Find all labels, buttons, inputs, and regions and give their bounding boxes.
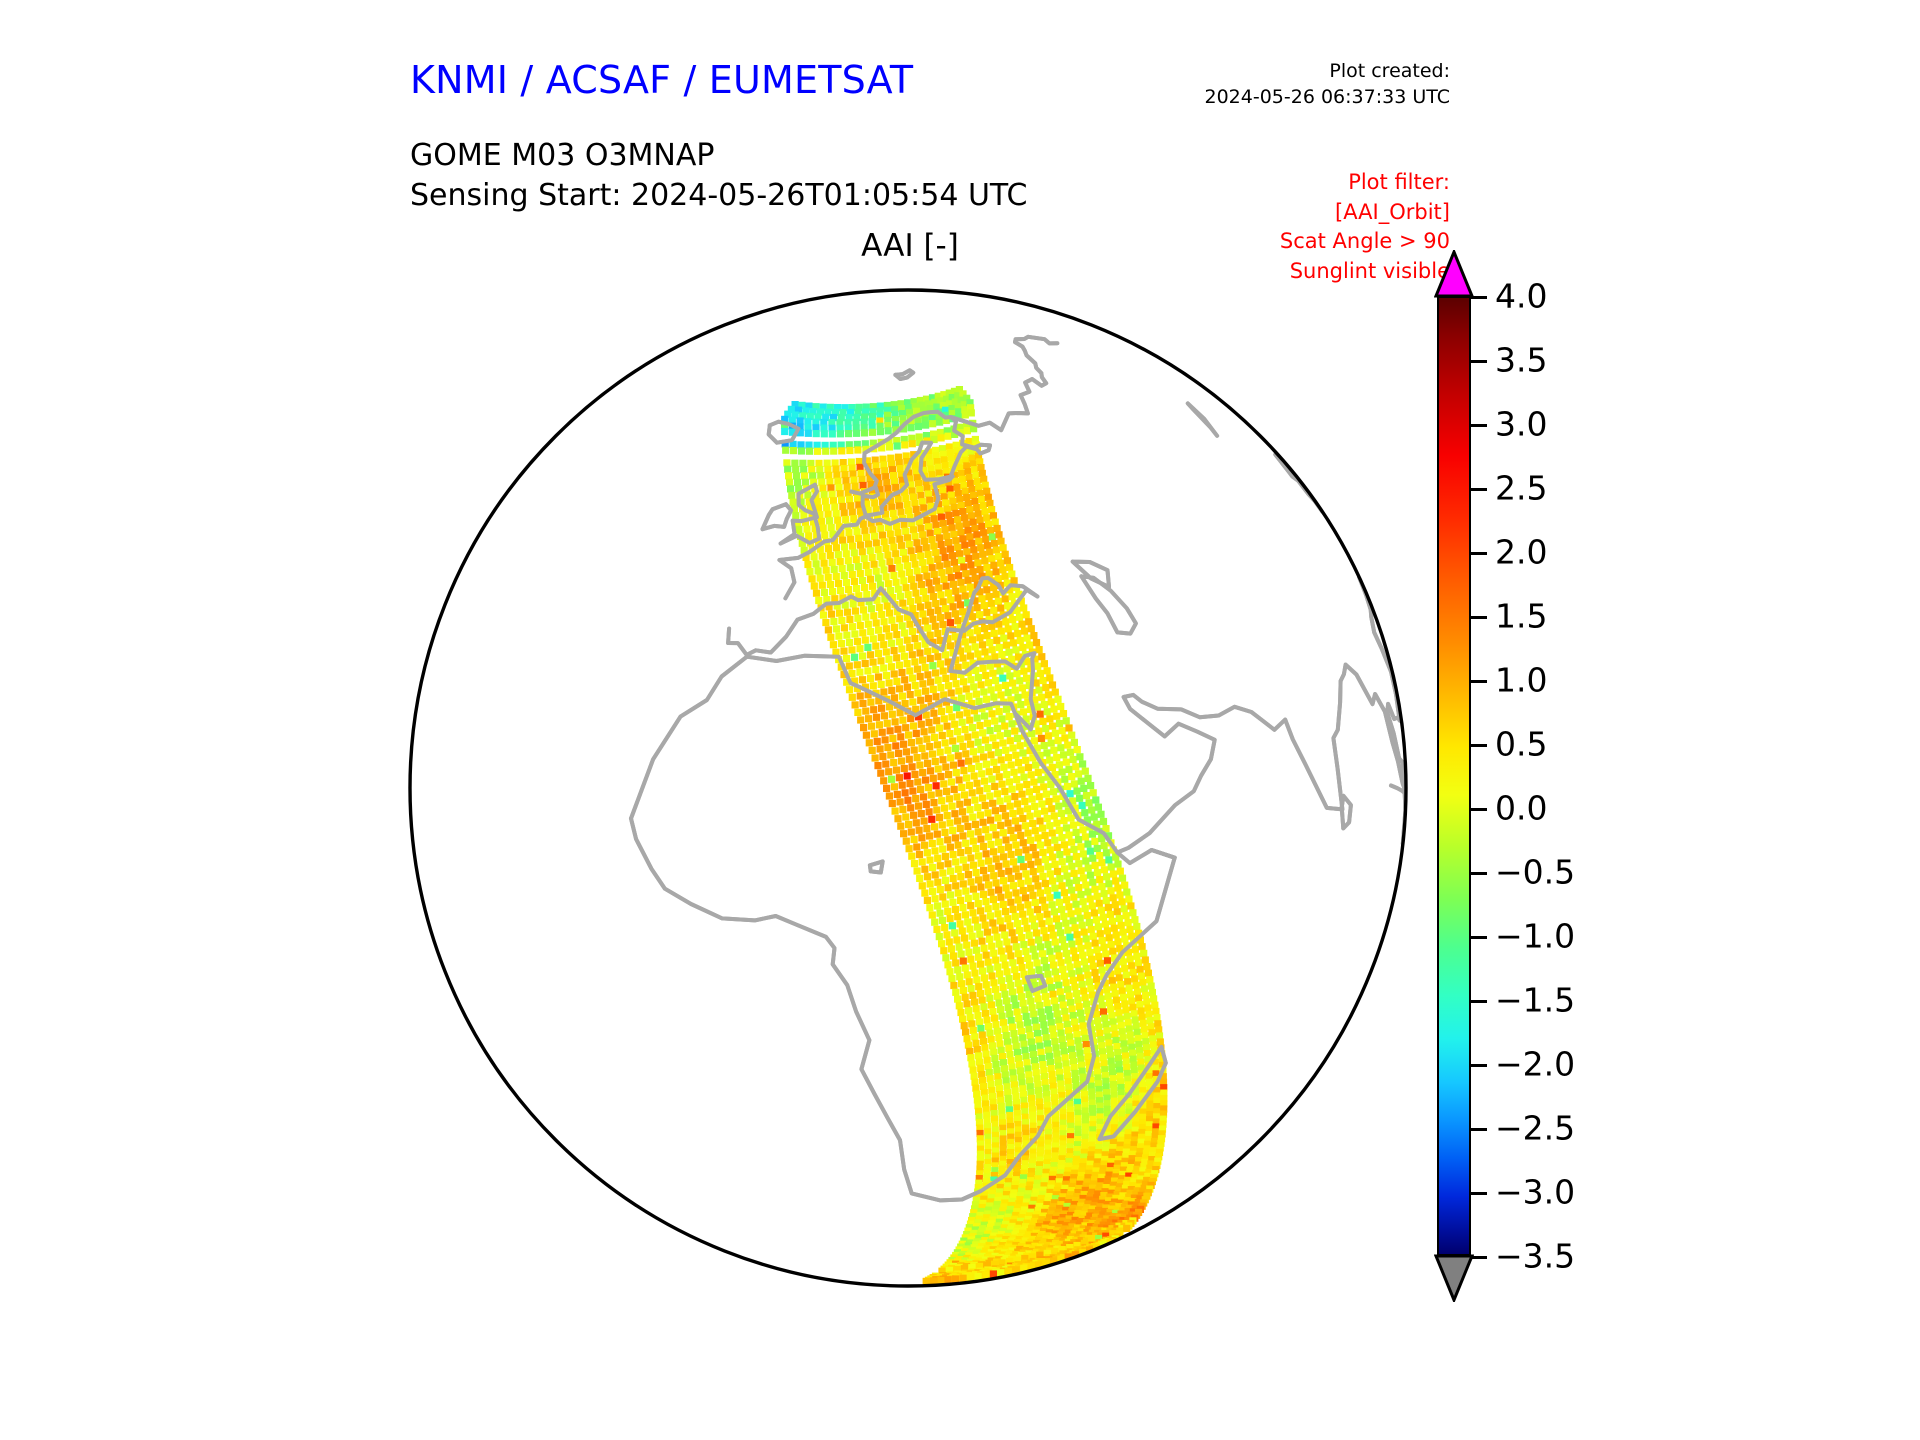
colorbar-tick bbox=[1471, 680, 1487, 683]
swath-pixel bbox=[957, 849, 964, 856]
swath-pixel bbox=[1067, 910, 1074, 917]
swath-pixel bbox=[1095, 1024, 1102, 1031]
swath-pixel bbox=[959, 1016, 966, 1023]
swath-pixel bbox=[1019, 684, 1026, 691]
swath-pixel bbox=[875, 627, 882, 634]
swath-pixel bbox=[945, 1276, 952, 1283]
swath-pixel bbox=[967, 956, 974, 963]
swath-pixel bbox=[977, 836, 984, 843]
swath-pixel bbox=[1071, 780, 1078, 787]
swath-pixel bbox=[1070, 894, 1077, 901]
swath-pixel bbox=[886, 443, 893, 450]
swath-pixel bbox=[787, 485, 794, 492]
swath-pixel bbox=[1005, 820, 1012, 827]
swath-pixel bbox=[1114, 908, 1121, 915]
swath-pixel bbox=[981, 974, 988, 981]
swath-pixel bbox=[919, 559, 926, 566]
swath-pixel bbox=[983, 586, 990, 593]
swath-pixel bbox=[1065, 766, 1072, 773]
swath-pixel bbox=[967, 854, 974, 861]
swath-pixel bbox=[890, 544, 897, 551]
swath-pixel bbox=[1012, 889, 1019, 896]
swath-pixel bbox=[1145, 970, 1152, 977]
swath-pixel bbox=[1083, 792, 1090, 799]
swath-pixel bbox=[895, 586, 902, 593]
swath-pixel bbox=[845, 586, 852, 593]
swath-pixel bbox=[1138, 973, 1145, 980]
swath-pixel bbox=[1020, 887, 1027, 894]
swath-pixel bbox=[1066, 856, 1073, 863]
swath-pixel bbox=[925, 551, 932, 558]
swath-pixel bbox=[936, 419, 943, 426]
swath-pixel bbox=[1151, 1002, 1158, 1009]
swath-pixel bbox=[839, 503, 846, 510]
swath-pixel bbox=[1019, 749, 1026, 756]
swath-pixel bbox=[985, 959, 992, 966]
swath-pixel bbox=[1034, 663, 1041, 670]
swath-pixel bbox=[1000, 955, 1007, 962]
swath-pixel bbox=[1011, 793, 1018, 800]
swath-pixel bbox=[963, 548, 970, 555]
swath-pixel bbox=[837, 558, 844, 565]
colorbar-tick-label: −1.5 bbox=[1495, 981, 1575, 1020]
swath-pixel bbox=[990, 848, 997, 855]
swath-pixel bbox=[981, 1044, 988, 1051]
swath-pixel bbox=[980, 688, 987, 695]
swath-pixel bbox=[960, 767, 967, 774]
swath-pixel bbox=[1092, 796, 1099, 803]
swath-pixel bbox=[980, 753, 987, 760]
swath-pixel bbox=[843, 655, 850, 662]
swath-pixel bbox=[999, 781, 1006, 788]
swath-pixel bbox=[818, 478, 825, 485]
swath-pixel bbox=[1100, 914, 1107, 921]
swath-pixel bbox=[1046, 757, 1053, 764]
swath-pixel bbox=[1005, 945, 1012, 952]
swath-pixel bbox=[944, 860, 951, 867]
swath-pixel bbox=[1051, 837, 1058, 844]
swath-pixel bbox=[821, 531, 828, 538]
swath-pixel bbox=[977, 746, 984, 753]
swath-pixel bbox=[898, 669, 905, 676]
swath-pixel bbox=[986, 500, 993, 507]
swath-pixel bbox=[1054, 892, 1061, 899]
swath-pixel bbox=[993, 546, 1000, 553]
swath-pixel bbox=[952, 610, 959, 617]
swath-pixel bbox=[1030, 946, 1037, 953]
swath-pixel bbox=[845, 557, 852, 564]
swath-pixel bbox=[928, 792, 935, 799]
swath-pixel bbox=[877, 745, 884, 752]
swath-pixel bbox=[929, 840, 936, 847]
swath-pixel bbox=[1007, 827, 1014, 834]
swath-pixel bbox=[992, 742, 999, 749]
swath-pixel bbox=[1038, 1008, 1045, 1015]
swath-pixel bbox=[1087, 985, 1094, 992]
swath-pixel bbox=[975, 900, 982, 907]
swath-pixel bbox=[1079, 802, 1086, 809]
swath-pixel bbox=[976, 1059, 983, 1066]
swath-pixel bbox=[1012, 752, 1019, 759]
swath-pixel bbox=[1094, 845, 1101, 852]
swath-pixel bbox=[1068, 941, 1075, 948]
swath-pixel bbox=[925, 719, 932, 726]
swath-pixel bbox=[854, 709, 861, 716]
swath-pixel bbox=[798, 447, 805, 454]
swath-pixel bbox=[990, 950, 997, 957]
swath-pixel bbox=[971, 970, 978, 977]
swath-pixel bbox=[1011, 936, 1018, 943]
swath-pixel bbox=[962, 1029, 969, 1036]
swath-pixel bbox=[1004, 557, 1011, 564]
swath-pixel bbox=[1022, 822, 1029, 829]
swath-pixel bbox=[1117, 868, 1124, 875]
swath-pixel bbox=[1092, 940, 1099, 947]
swath-pixel bbox=[1067, 790, 1074, 797]
swath-pixel bbox=[958, 951, 965, 958]
swath-pixel bbox=[982, 672, 989, 679]
swath-pixel bbox=[1057, 929, 1064, 936]
swath-pixel bbox=[1044, 887, 1051, 894]
swath-pixel bbox=[932, 623, 939, 630]
swath-pixel bbox=[1039, 950, 1046, 957]
swath-pixel bbox=[1034, 834, 1041, 841]
swath-pixel bbox=[813, 430, 820, 437]
plot-created-label: Plot created: bbox=[1000, 58, 1450, 84]
swath-pixel bbox=[843, 550, 850, 557]
swath-pixel bbox=[918, 810, 925, 817]
swath-pixel bbox=[854, 615, 861, 622]
swath-pixel bbox=[1017, 701, 1024, 708]
swath-pixel bbox=[1037, 889, 1044, 896]
swath-pixel bbox=[1025, 618, 1032, 625]
swath-pixel bbox=[873, 619, 880, 626]
swath-pixel bbox=[1038, 735, 1045, 742]
swath-pixel bbox=[1111, 1025, 1118, 1032]
swath-pixel bbox=[826, 478, 833, 485]
swath-pixel bbox=[1142, 956, 1149, 963]
swath-pixel bbox=[1033, 639, 1040, 646]
swath-pixel bbox=[881, 712, 888, 719]
swath-pixel bbox=[974, 715, 981, 722]
swath-pixel bbox=[951, 786, 958, 793]
swath-pixel bbox=[875, 575, 882, 582]
swath-pixel bbox=[983, 696, 990, 703]
swath-pixel bbox=[1072, 924, 1079, 931]
swath-pixel bbox=[890, 759, 897, 766]
swath-pixel bbox=[1000, 764, 1007, 771]
swath-pixel bbox=[937, 886, 944, 893]
swath-pixel bbox=[1021, 798, 1028, 805]
swath-pixel bbox=[1050, 706, 1057, 713]
swath-pixel bbox=[1012, 1036, 1019, 1043]
swath-pixel bbox=[1124, 1013, 1131, 1020]
swath-pixel bbox=[927, 557, 934, 564]
swath-pixel bbox=[1048, 925, 1055, 932]
swath-pixel bbox=[1029, 820, 1036, 827]
swath-pixel bbox=[1034, 882, 1041, 889]
swath-pixel bbox=[948, 975, 955, 982]
swath-pixel bbox=[839, 537, 846, 544]
swath-pixel bbox=[991, 927, 998, 934]
swath-pixel bbox=[1031, 737, 1038, 744]
swath-pixel bbox=[940, 598, 947, 605]
swath-pixel bbox=[1057, 988, 1064, 995]
swath-pixel bbox=[820, 525, 827, 532]
swath-pixel bbox=[876, 721, 883, 728]
swath-pixel bbox=[960, 678, 967, 685]
swath-pixel bbox=[833, 544, 840, 551]
swath-pixel bbox=[919, 769, 926, 776]
swath-pixel bbox=[1043, 749, 1050, 756]
swath-pixel bbox=[988, 710, 995, 717]
swath-pixel bbox=[921, 728, 928, 735]
swath-pixel bbox=[1116, 915, 1123, 922]
swath-pixel bbox=[1060, 1001, 1067, 1008]
swath-pixel bbox=[1043, 791, 1050, 798]
swath-pixel bbox=[879, 753, 886, 760]
swath-pixel bbox=[965, 693, 972, 700]
swath-pixel bbox=[975, 828, 982, 835]
swath-pixel bbox=[1035, 728, 1042, 735]
swath-pixel bbox=[954, 516, 961, 523]
swath-pixel bbox=[961, 1022, 968, 1029]
swath-pixel bbox=[932, 693, 939, 700]
swath-pixel bbox=[893, 654, 900, 661]
swath-pixel bbox=[949, 524, 956, 531]
swath-pixel bbox=[921, 866, 928, 873]
swath-pixel bbox=[884, 602, 891, 609]
swath-pixel bbox=[910, 812, 917, 819]
swath-pixel bbox=[981, 778, 988, 785]
swath-pixel bbox=[906, 780, 913, 787]
swath-pixel bbox=[1150, 995, 1157, 1002]
swath-pixel bbox=[866, 739, 873, 746]
swath-pixel bbox=[947, 596, 954, 603]
swath-pixel bbox=[1038, 800, 1045, 807]
swath-pixel bbox=[936, 933, 943, 940]
colorbar-tick-label: 2.5 bbox=[1495, 469, 1547, 508]
swath-pixel bbox=[806, 568, 813, 575]
swath-pixel bbox=[1042, 684, 1049, 691]
swath-pixel bbox=[1059, 858, 1066, 865]
swath-pixel bbox=[1021, 628, 1028, 635]
swath-pixel bbox=[924, 648, 931, 655]
swath-pixel bbox=[994, 1028, 1001, 1035]
swath-pixel bbox=[790, 499, 797, 506]
swath-pixel bbox=[1066, 880, 1073, 887]
swath-pixel bbox=[1067, 999, 1074, 1006]
swath-pixel bbox=[805, 430, 812, 437]
swath-pixel bbox=[1003, 771, 1010, 778]
swath-pixel bbox=[1035, 858, 1042, 865]
swath-pixel bbox=[883, 625, 890, 632]
swath-pixel bbox=[933, 926, 940, 933]
swath-pixel bbox=[952, 882, 959, 889]
swath-pixel bbox=[959, 743, 966, 750]
swath-pixel bbox=[954, 617, 961, 624]
swath-pixel bbox=[862, 637, 869, 644]
swath-pixel bbox=[1011, 728, 1018, 735]
colorbar-tick bbox=[1471, 936, 1487, 939]
swath-pixel bbox=[914, 666, 921, 673]
swath-pixel bbox=[917, 673, 924, 680]
swath-pixel bbox=[846, 662, 853, 669]
swath-pixel bbox=[986, 995, 993, 1002]
swath-pixel bbox=[851, 630, 858, 637]
swath-pixel bbox=[1016, 927, 1023, 934]
swath-pixel bbox=[908, 853, 915, 860]
swath-pixel bbox=[976, 787, 983, 794]
swath-pixel bbox=[907, 598, 914, 605]
swath-pixel bbox=[1049, 829, 1056, 836]
swath-pixel bbox=[964, 733, 971, 740]
swath-pixel bbox=[973, 947, 980, 954]
swath-pixel bbox=[1060, 1042, 1067, 1049]
swath-pixel bbox=[1009, 959, 1016, 966]
swath-pixel bbox=[1032, 953, 1039, 960]
granule-metadata: GOME M03 O3MNAP Sensing Start: 2024-05-2… bbox=[410, 136, 1027, 216]
swath-pixel bbox=[1054, 696, 1061, 703]
swath-pixel bbox=[802, 479, 809, 486]
swath-pixel bbox=[1008, 571, 1015, 578]
swath-pixel bbox=[977, 566, 984, 573]
swath-pixel bbox=[991, 540, 998, 547]
swath-pixel bbox=[791, 460, 798, 467]
swath-pixel bbox=[828, 611, 835, 618]
swath-pixel bbox=[1131, 1010, 1138, 1017]
swath-pixel bbox=[889, 800, 896, 807]
swath-pixel bbox=[985, 744, 992, 751]
swath-pixel bbox=[1128, 962, 1135, 969]
swath-pixel bbox=[937, 773, 944, 780]
swath-pixel bbox=[1061, 865, 1068, 872]
swath-pixel bbox=[852, 483, 859, 490]
swath-pixel bbox=[1042, 1028, 1049, 1035]
swath-pixel bbox=[872, 666, 879, 673]
swath-pixel bbox=[904, 684, 911, 691]
swath-pixel bbox=[1099, 967, 1106, 974]
swath-pixel bbox=[1050, 1032, 1057, 1039]
swath-pixel bbox=[888, 537, 895, 544]
swath-pixel bbox=[877, 657, 884, 664]
swath-pixel bbox=[1044, 815, 1051, 822]
swath-pixel bbox=[1022, 894, 1029, 901]
swath-pixel bbox=[893, 631, 900, 638]
swath-pixel bbox=[1004, 795, 1011, 802]
swath-pixel bbox=[995, 863, 1002, 870]
swath-pixel bbox=[871, 533, 878, 540]
swath-pixel bbox=[871, 500, 878, 507]
swath-pixel bbox=[913, 843, 920, 850]
swath-pixel bbox=[1015, 825, 1022, 832]
swath-pixel bbox=[983, 761, 990, 768]
swath-pixel bbox=[831, 504, 838, 511]
swath-pixel bbox=[953, 680, 960, 687]
swath-pixel bbox=[863, 562, 870, 569]
swath-pixel bbox=[1118, 922, 1125, 929]
swath-pixel bbox=[974, 924, 981, 931]
swath-pixel bbox=[934, 528, 941, 535]
swath-pixel bbox=[996, 644, 1003, 651]
swath-pixel bbox=[975, 739, 982, 746]
swath-pixel bbox=[988, 865, 995, 872]
swath-pixel bbox=[885, 427, 892, 434]
swath-pixel bbox=[964, 1035, 971, 1042]
swath-pixel bbox=[1055, 922, 1062, 929]
swath-pixel bbox=[893, 678, 900, 685]
swath-pixel bbox=[957, 873, 964, 880]
swath-pixel bbox=[914, 642, 921, 649]
swath-pixel bbox=[1141, 985, 1148, 992]
swath-pixel bbox=[908, 828, 915, 835]
swath-pixel bbox=[947, 518, 954, 525]
swath-pixel bbox=[987, 527, 994, 534]
swath-pixel bbox=[1032, 1017, 1039, 1024]
swath-pixel bbox=[1042, 832, 1049, 839]
swath-pixel bbox=[1073, 853, 1080, 860]
swath-pixel bbox=[854, 661, 861, 668]
swath-pixel bbox=[979, 1031, 986, 1038]
swath-pixel bbox=[1020, 1000, 1027, 1007]
swath-pixel bbox=[1109, 918, 1116, 925]
swath-pixel bbox=[1093, 976, 1100, 983]
swath-pixel bbox=[867, 675, 874, 682]
swath-pixel bbox=[919, 531, 926, 538]
swath-pixel bbox=[947, 891, 954, 898]
swath-pixel bbox=[1058, 995, 1065, 1002]
swath-pixel bbox=[1101, 842, 1108, 849]
swath-pixel bbox=[1005, 689, 1012, 696]
swath-pixel bbox=[905, 507, 912, 514]
swath-pixel bbox=[1144, 1005, 1151, 1012]
swath-pixel bbox=[1012, 1002, 1019, 1009]
swath-pixel bbox=[859, 548, 866, 555]
swath-pixel bbox=[1015, 849, 1022, 856]
swath-pixel bbox=[1013, 1043, 1020, 1050]
swath-pixel bbox=[966, 926, 973, 933]
swath-pixel bbox=[951, 504, 958, 511]
swath-pixel bbox=[953, 793, 960, 800]
swath-pixel bbox=[852, 608, 859, 615]
swath-pixel bbox=[994, 963, 1001, 970]
swath-pixel bbox=[1009, 680, 1016, 687]
swath-pixel bbox=[934, 556, 941, 563]
swath-pixel bbox=[962, 816, 969, 823]
swath-pixel bbox=[997, 691, 1004, 698]
swath-pixel bbox=[1007, 1057, 1014, 1064]
swath-pixel bbox=[1025, 854, 1032, 861]
swath-pixel bbox=[1048, 955, 1055, 962]
swath-pixel bbox=[1051, 885, 1058, 892]
swath-pixel bbox=[892, 550, 899, 557]
plot-created-block: Plot created: 2024-05-26 06:37:33 UTC bbox=[1000, 58, 1450, 110]
swath-pixel bbox=[1043, 964, 1050, 971]
swath-pixel bbox=[1071, 1018, 1078, 1025]
swath-pixel bbox=[1131, 916, 1138, 923]
swath-pixel bbox=[977, 1025, 984, 1032]
swath-pixel bbox=[968, 512, 975, 519]
swath-pixel bbox=[1087, 872, 1094, 879]
swath-pixel bbox=[923, 573, 930, 580]
swath-pixel bbox=[885, 656, 892, 663]
swath-pixel bbox=[814, 448, 821, 455]
swath-pixel bbox=[958, 502, 965, 509]
swath-pixel bbox=[794, 479, 801, 486]
swath-pixel bbox=[1014, 735, 1021, 742]
swath-pixel bbox=[994, 790, 1001, 797]
swath-pixel bbox=[982, 826, 989, 833]
